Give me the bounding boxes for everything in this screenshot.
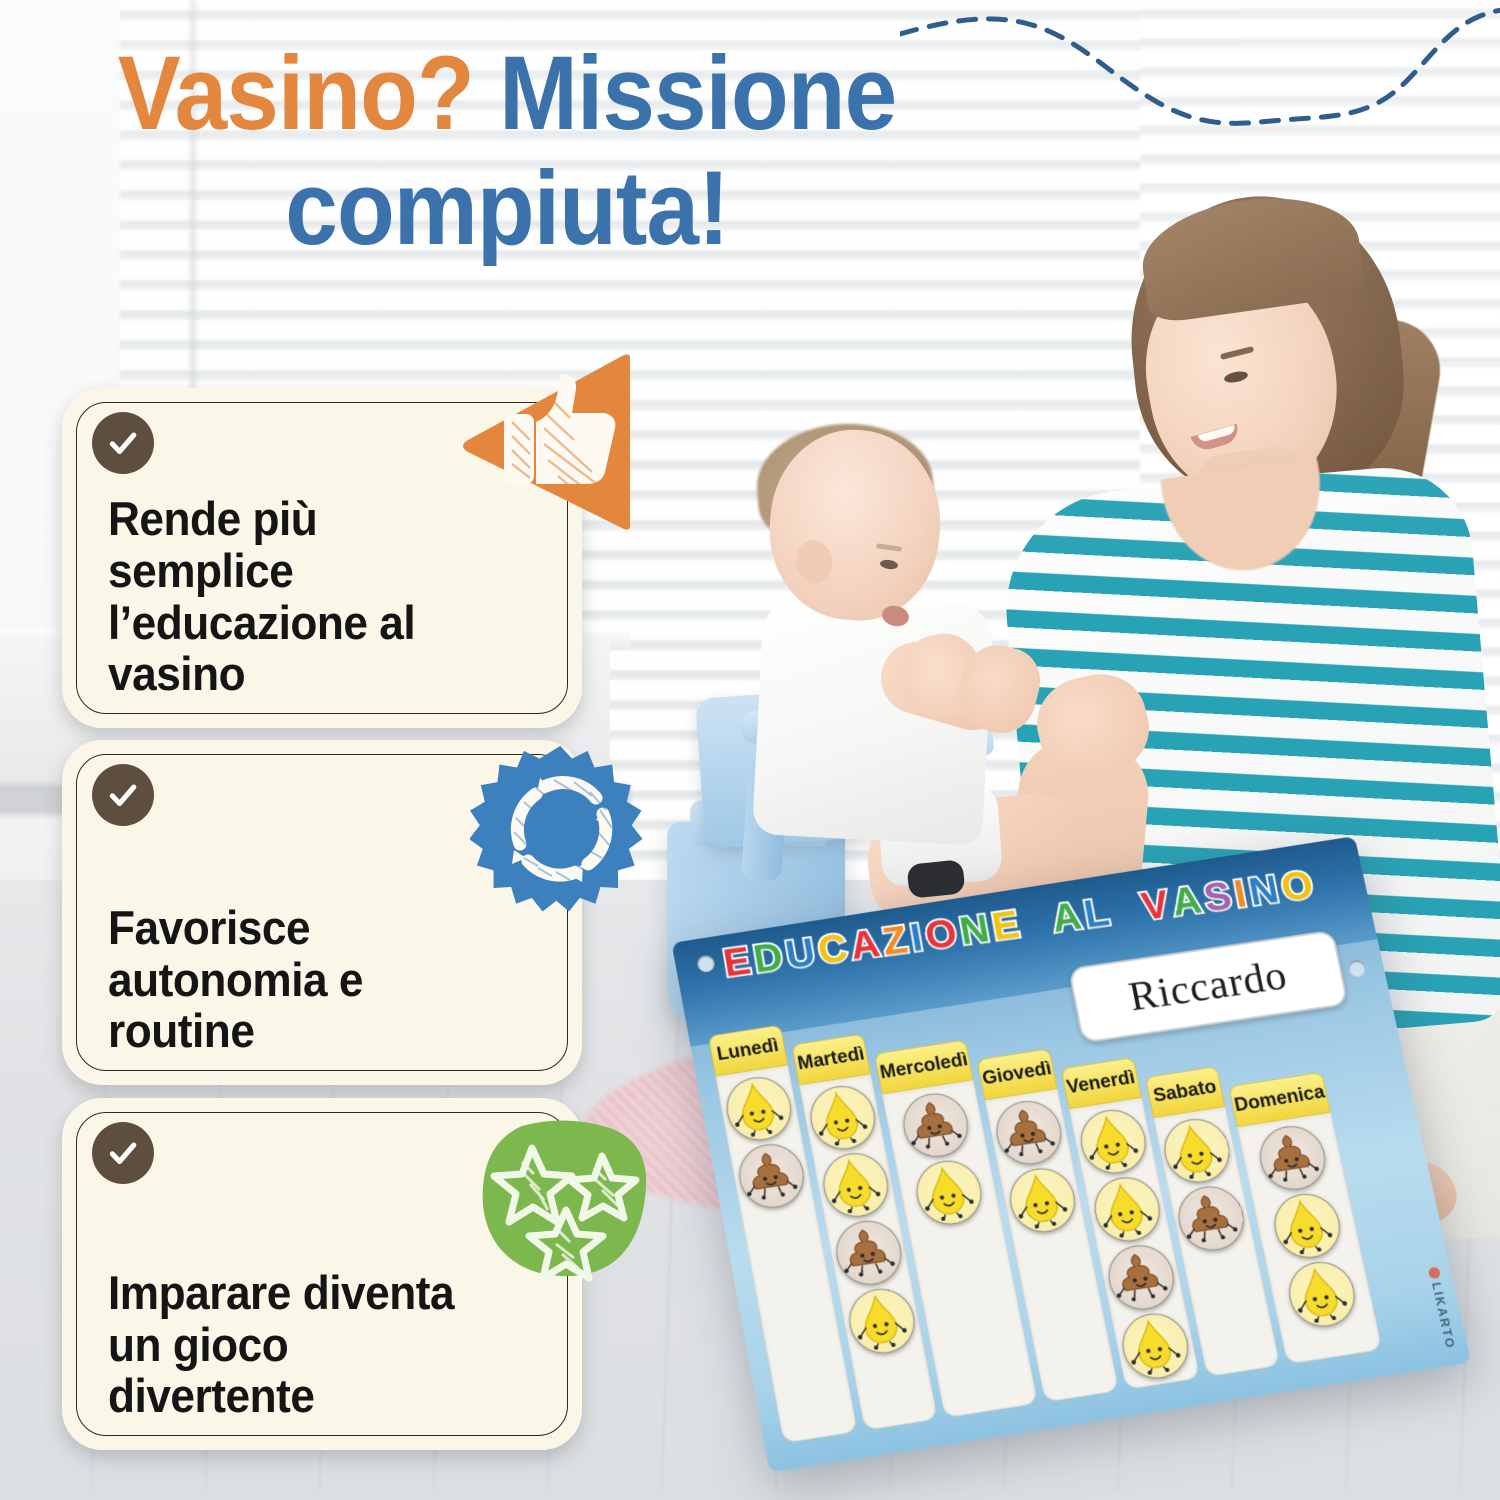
headline-part-1: Vasino? xyxy=(118,35,474,152)
pipi-sticker-icon[interactable] xyxy=(805,1082,880,1154)
headline-part-2: Missione xyxy=(499,35,896,152)
pipi-sticker-icon[interactable] xyxy=(721,1073,796,1145)
check-circle-icon xyxy=(92,764,154,826)
brand-dot-icon xyxy=(1427,1267,1440,1280)
brand-label: LIKARTO xyxy=(1429,1281,1458,1350)
headline-line-2: compiuta! xyxy=(48,155,966,262)
feature-card-1-label: Rende più semplice l’educazione al vasin… xyxy=(108,493,478,700)
pipi-sticker-icon[interactable] xyxy=(1089,1173,1165,1246)
brand-logo: LIKARTO xyxy=(1426,1266,1458,1350)
day-columns: LunedìMartedìMercoledìGiovedìVenerdìSaba… xyxy=(709,944,1382,1443)
popo-sticker-icon[interactable] xyxy=(1103,1241,1180,1314)
dashed-wave-icon xyxy=(900,0,1500,182)
popo-sticker-icon[interactable] xyxy=(831,1216,907,1289)
feature-card-2-label: Favorisce autonomia e routine xyxy=(108,902,478,1057)
board-surface: EDUCAZIONE AL VASINO Riccardo LunedìMart… xyxy=(671,836,1471,1472)
title-letter: O xyxy=(1278,863,1321,911)
popo-sticker-icon[interactable] xyxy=(734,1140,809,1212)
pipi-sticker-icon[interactable] xyxy=(844,1284,920,1358)
routine-badge xyxy=(470,740,650,920)
pipi-sticker-icon[interactable] xyxy=(1004,1164,1080,1237)
pipi-sticker-icon[interactable] xyxy=(1117,1309,1194,1383)
page-title: Vasino? Missione compiuta! xyxy=(48,40,966,262)
thumbs-up-badge xyxy=(452,352,637,532)
starburst-seal xyxy=(470,746,643,912)
pipi-sticker-icon[interactable] xyxy=(1159,1114,1236,1187)
grommet-hole-right xyxy=(1347,959,1367,978)
check-circle-icon xyxy=(92,1122,154,1184)
stars-badge xyxy=(478,1118,653,1288)
popo-sticker-icon[interactable] xyxy=(1173,1182,1250,1255)
popo-sticker-icon[interactable] xyxy=(898,1089,973,1161)
potty-training-chart-board[interactable]: EDUCAZIONE AL VASINO Riccardo LunedìMart… xyxy=(671,836,1471,1472)
pipi-sticker-icon[interactable] xyxy=(1075,1105,1151,1177)
pipi-sticker-icon[interactable] xyxy=(1268,1189,1345,1262)
pipi-sticker-icon[interactable] xyxy=(1283,1257,1361,1331)
pipi-sticker-icon[interactable] xyxy=(818,1149,893,1222)
popo-sticker-icon[interactable] xyxy=(1254,1122,1331,1195)
promo-image-root: Vasino? Missione compiuta! Rende più sem… xyxy=(0,0,1500,1500)
check-circle-icon xyxy=(92,412,154,474)
pipi-sticker-icon[interactable] xyxy=(911,1156,987,1229)
popo-sticker-icon[interactable] xyxy=(991,1097,1067,1169)
feature-card-3-label: Imparare diventa un gioco divertente xyxy=(108,1267,478,1422)
